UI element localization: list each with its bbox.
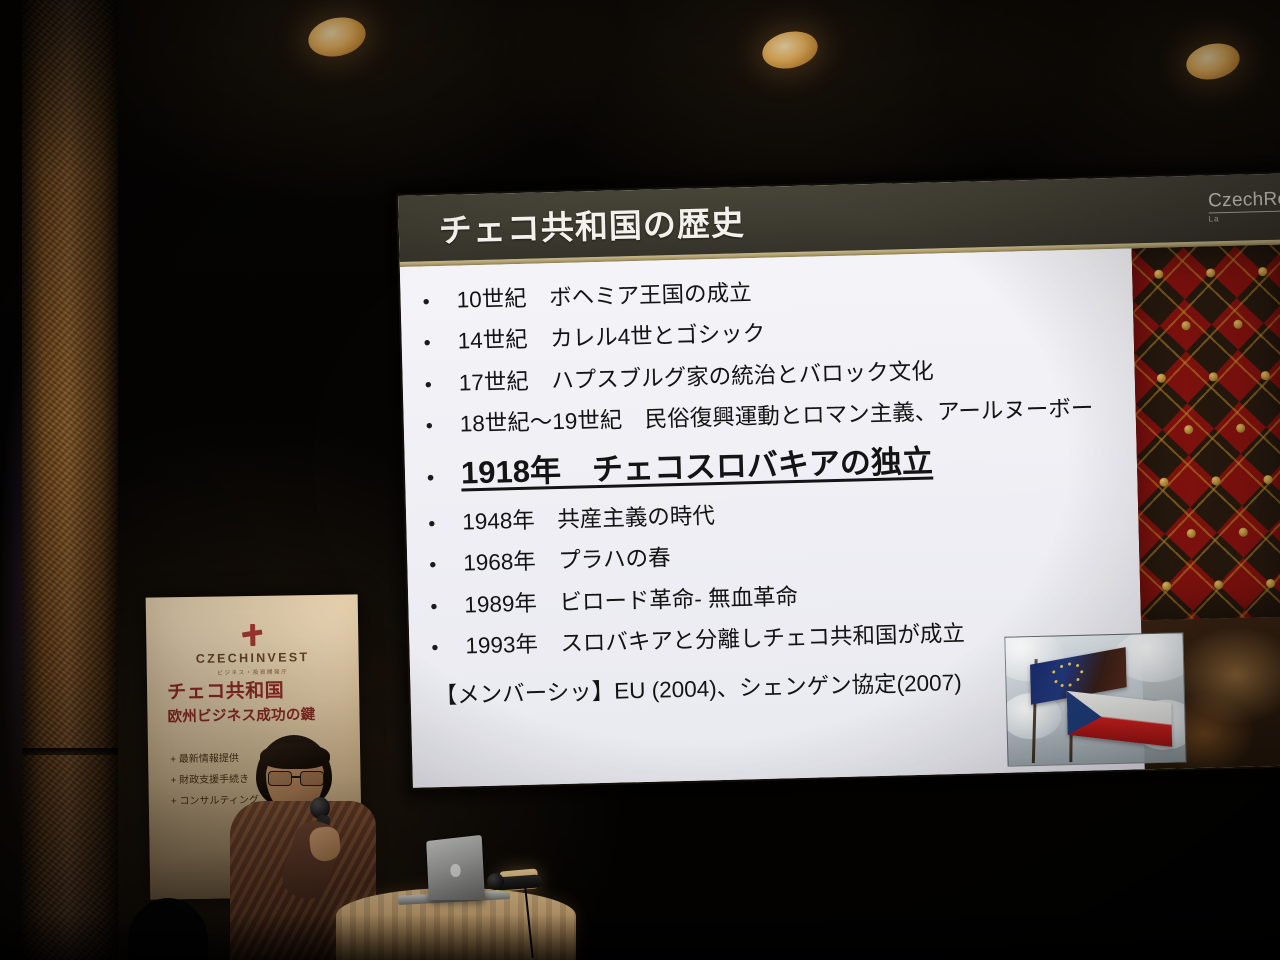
- bullet-icon: •: [430, 596, 464, 617]
- slide-title: チェコ共和国の歴史: [438, 196, 745, 252]
- ceiling-spotlight-center: [759, 27, 821, 74]
- bullet-icon: •: [422, 291, 456, 312]
- presentation-slide: チェコ共和国の歴史 CzechRe La: [398, 174, 1280, 788]
- czech-cross-icon: [241, 624, 263, 646]
- bullet-icon: •: [427, 467, 461, 488]
- history-bullet-list: • 10世紀 ボヘミア王国の成立 • 14世紀 カレル4世とゴシック • 17世…: [400, 259, 1280, 669]
- glasses-icon: [268, 771, 324, 784]
- eu-czech-flags-photo: [1004, 632, 1186, 766]
- ceiling-spotlight-right: [1183, 39, 1243, 84]
- foreground-shadow: [0, 914, 1280, 960]
- czechinvest-logo-text: CZECHINVEST: [147, 649, 359, 666]
- stone-column: [22, 0, 118, 960]
- bullet-icon: •: [429, 554, 463, 575]
- bullet-text: 1918年 チェコスロバキアの独立: [461, 446, 934, 489]
- bullet-text: 1948年 共産主義の時代: [462, 505, 715, 534]
- bullet-icon: •: [426, 416, 460, 437]
- bullet-text: 1989年 ビロード革命- 無血革命: [464, 586, 798, 617]
- bullet-icon: •: [425, 374, 459, 395]
- apple-logo-icon: [450, 864, 461, 878]
- bullet-icon: •: [431, 637, 465, 658]
- column-seam: [22, 748, 118, 755]
- presenter-fringe: [260, 743, 330, 769]
- bullet-text: 1968年 プラハの春: [463, 547, 671, 575]
- projection-screen: チェコ共和国の歴史 CzechRe La: [398, 174, 1280, 788]
- czechinvest-logo: CZECHINVEST ビジネス・投資開発庁: [146, 622, 359, 677]
- bullet-text: 14世紀 カレル4世とゴシック: [457, 323, 765, 353]
- czech-flag: [1067, 691, 1172, 747]
- logo-text: CzechRe: [1208, 189, 1280, 213]
- slide-body: • 10世紀 ボヘミア王国の成立 • 14世紀 カレル4世とゴシック • 17世…: [400, 245, 1280, 788]
- banner-subheading: 欧州ビジネス成功の鍵: [167, 703, 315, 726]
- bullet-icon: •: [428, 513, 462, 534]
- bullet-text: 10世紀 ボヘミア王国の成立: [456, 282, 752, 312]
- ceiling-spotlight-left: [305, 12, 370, 61]
- conference-room-photo: チェコ共和国の歴史 CzechRe La: [0, 0, 1280, 960]
- banner-heading: チェコ共和国: [167, 676, 284, 705]
- spare-microphone-head: [487, 873, 504, 890]
- bullet-text: 1993年 スロバキアと分離しチェコ共和国が成立: [465, 623, 965, 658]
- logo-subtext: La: [1209, 213, 1280, 223]
- bullet-icon: •: [423, 333, 457, 354]
- bullet-text: 17世紀 ハプスブルグ家の統治とバロック文化: [458, 360, 933, 395]
- bullet-text: 18世紀〜19世紀 民俗復興運動とロマン主義、アールヌーボー: [460, 397, 1094, 436]
- macbook-laptop: [426, 835, 485, 900]
- czech-republic-logo: CzechRe La: [1208, 189, 1280, 223]
